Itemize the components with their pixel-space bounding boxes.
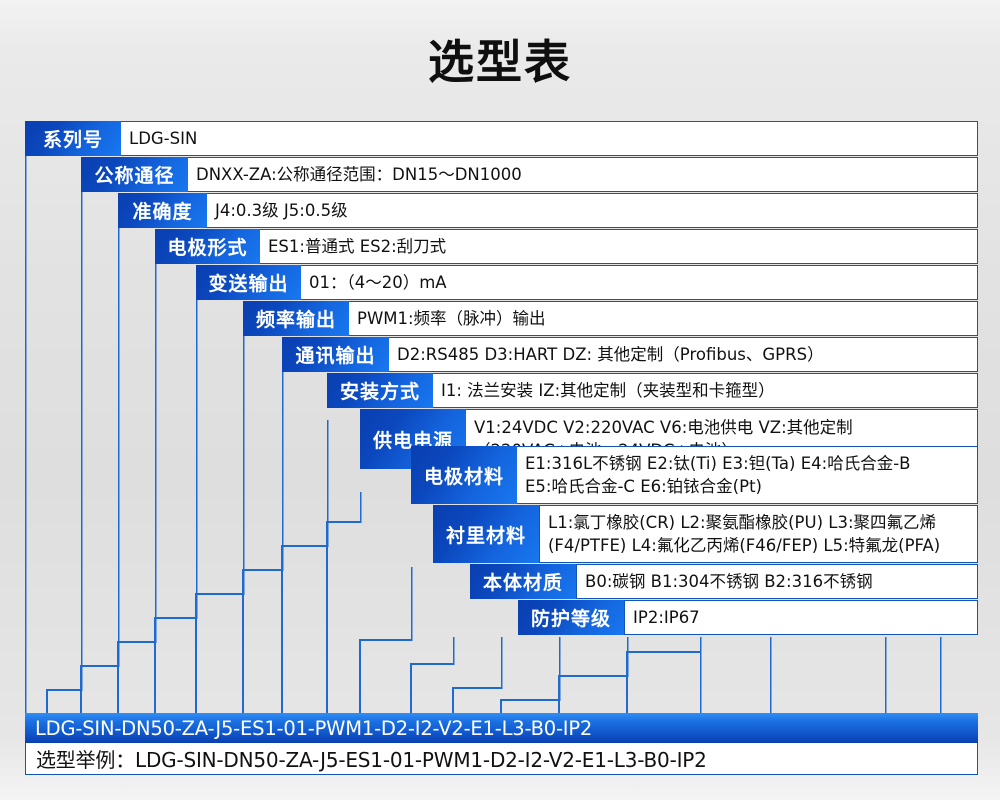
row-value-box: DNXX-ZA:公称通径范围：DN15～DN1000: [187, 157, 978, 192]
row-label-pinlv-shuchu[interactable]: 频率输出: [243, 301, 349, 336]
row-label-dianji-cailiao[interactable]: 电极材料: [411, 446, 517, 504]
row-label-biansong-shuchu[interactable]: 变送输出: [196, 265, 301, 300]
row-value: J4:0.3级 J5:0.5级: [207, 199, 977, 222]
row-label-zhunqueduo[interactable]: 准确度: [118, 193, 207, 228]
model-code: LDG-SIN-DN50-ZA-J5-ES1-01-PWM1-D2-I2-V2-…: [25, 717, 592, 740]
row-label-xilie-hao[interactable]: 系列号: [25, 121, 121, 156]
row-label-tongxun-shuchu[interactable]: 通讯输出: [282, 337, 389, 372]
row-value: DNXX-ZA:公称通径范围：DN15～DN1000: [188, 163, 977, 186]
row-value: B0:碳钢 B1:304不锈钢 B2:316不锈钢: [577, 570, 977, 593]
row-label-anzhuang-fangshi[interactable]: 安装方式: [327, 373, 433, 408]
row-value: D2:RS485 D3:HART DZ: 其他定制（Profibus、GPRS）: [389, 343, 977, 366]
row-value: I1: 法兰安装 IZ:其他定制（夹装型和卡箍型）: [433, 379, 977, 402]
row-value: L1:氯丁橡胶(CR) L2:聚氨酯橡胶(PU) L3:聚四氟乙烯 (F4/PT…: [540, 511, 977, 558]
row-value: PWM1:频率（脉冲）输出: [349, 307, 977, 330]
model-code-bar: LDG-SIN-DN50-ZA-J5-ES1-01-PWM1-D2-I2-V2-…: [25, 713, 978, 743]
row-value-box: LDG-SIN: [120, 121, 978, 156]
row-label-chenli-cailiao[interactable]: 衬里材料: [433, 505, 539, 563]
row-value: E1:316L不锈钢 E2:钛(Ti) E3:钽(Ta) E4:哈氏合金-B E…: [517, 452, 977, 499]
row-value-box: 01：（4～20）mA: [300, 265, 978, 300]
row-value: 01：（4～20）mA: [301, 271, 977, 294]
row-value-box: I1: 法兰安装 IZ:其他定制（夹装型和卡箍型）: [432, 373, 978, 408]
row-label-fanghu-dengji[interactable]: 防护等级: [518, 600, 624, 635]
row-value-box: L1:氯丁橡胶(CR) L2:聚氨酯橡胶(PU) L3:聚四氟乙烯 (F4/PT…: [539, 505, 978, 563]
selection-example-bar: 选型举例：LDG-SIN-DN50-ZA-J5-ES1-01-PWM1-D2-I…: [25, 743, 978, 775]
row-value: LDG-SIN: [121, 127, 977, 150]
selection-table-page: 选型表: [0, 0, 1000, 800]
row-value: ES1:普通式 ES2:刮刀式: [260, 235, 977, 258]
selection-example: 选型举例：LDG-SIN-DN50-ZA-J5-ES1-01-PWM1-D2-I…: [26, 744, 707, 773]
row-value-box: D2:RS485 D3:HART DZ: 其他定制（Profibus、GPRS）: [388, 337, 978, 372]
row-value-box: PWM1:频率（脉冲）输出: [348, 301, 978, 336]
row-value-box: J4:0.3级 J5:0.5级: [206, 193, 978, 228]
row-value-box: ES1:普通式 ES2:刮刀式: [259, 229, 978, 264]
row-label-benti-caizhi[interactable]: 本体材质: [470, 564, 576, 599]
row-value: IP2:IP67: [625, 606, 977, 629]
row-value-box: IP2:IP67: [624, 600, 978, 635]
row-label-gongcheng-tongjing[interactable]: 公称通径: [81, 157, 188, 192]
row-label-dianji-xingshi[interactable]: 电极形式: [155, 229, 260, 264]
row-value-box: B0:碳钢 B1:304不锈钢 B2:316不锈钢: [576, 564, 978, 599]
row-value-box: E1:316L不锈钢 E2:钛(Ti) E3:钽(Ta) E4:哈氏合金-B E…: [516, 446, 978, 504]
